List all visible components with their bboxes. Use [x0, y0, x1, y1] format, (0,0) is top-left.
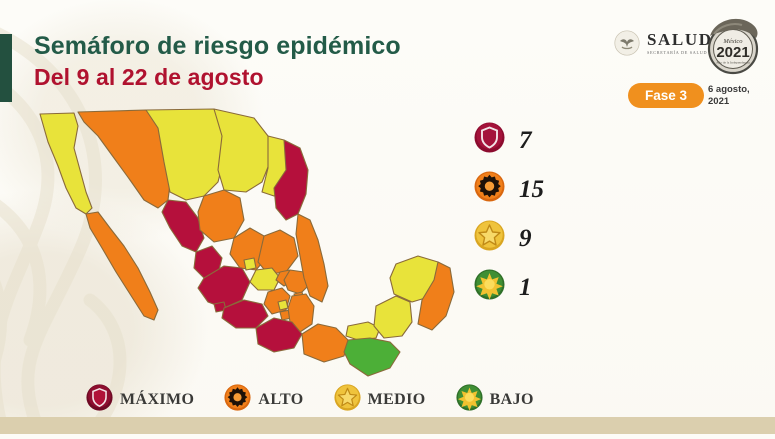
state-durango	[198, 190, 244, 242]
legend-item-medio: MEDIO	[334, 384, 426, 416]
state-chiapas	[344, 338, 400, 376]
mexico-2021-seal: México 2021 Año de la Independencia	[700, 14, 766, 78]
seal-year: 2021	[716, 44, 749, 61]
gear-icon	[474, 171, 505, 207]
count-row-bajo: 1	[474, 269, 544, 305]
footer-bar	[0, 417, 775, 434]
accent-bar	[0, 34, 12, 102]
phase-badge: Fase 3	[628, 83, 704, 108]
state-san-luis-potosi	[258, 230, 298, 274]
state-sinaloa	[162, 200, 204, 252]
legend-label-maximo: MÁXIMO	[120, 392, 194, 408]
count-row-maximo: 7	[474, 122, 544, 158]
count-value-alto: 15	[519, 177, 544, 202]
star-icon	[334, 384, 361, 416]
count-row-medio: 9	[474, 220, 544, 256]
legend-item-bajo: BAJO	[456, 384, 534, 416]
legend-label-medio: MEDIO	[368, 392, 426, 408]
risk-legend: MÁXIMO ALTO MEDIO	[86, 384, 534, 416]
shield-icon	[86, 384, 113, 416]
seal-subtitle: Año de la Independencia	[716, 61, 750, 65]
legend-item-maximo: MÁXIMO	[86, 384, 194, 416]
date-line-2: 2021	[708, 96, 750, 108]
gear-icon	[224, 384, 251, 416]
salud-logo: SALUD SECRETARÍA DE SALUD	[614, 30, 713, 56]
state-ciudad-de-mexico	[278, 300, 288, 310]
sun-icon	[474, 269, 505, 305]
legend-label-bajo: BAJO	[490, 392, 534, 408]
state-baja-california	[40, 113, 92, 214]
state-coahuila	[214, 109, 270, 192]
count-value-medio: 9	[519, 226, 532, 251]
sun-icon	[456, 384, 483, 416]
date-label: 6 agosto, 2021	[708, 84, 750, 108]
slide-root: Semáforo de riesgo epidémico Del 9 al 22…	[0, 0, 775, 434]
page-subtitle: Del 9 al 22 de agosto	[34, 64, 401, 92]
date-line-1: 6 agosto,	[708, 84, 750, 96]
count-value-maximo: 7	[519, 128, 532, 153]
title-block: Semáforo de riesgo epidémico Del 9 al 22…	[34, 32, 401, 91]
count-value-bajo: 1	[519, 275, 532, 300]
legend-label-alto: ALTO	[258, 392, 303, 408]
risk-count-list: 7 15 9	[474, 122, 544, 305]
state-baja-california-sur	[86, 212, 158, 320]
star-icon	[474, 220, 505, 256]
legend-item-alto: ALTO	[224, 384, 303, 416]
state-oaxaca	[302, 324, 348, 362]
page-title: Semáforo de riesgo epidémico	[34, 32, 401, 62]
shield-icon	[474, 122, 505, 158]
state-campeche	[374, 296, 412, 338]
mexico-risk-map	[18, 96, 478, 386]
state-aguascalientes	[244, 258, 256, 270]
eagle-emblem-icon	[614, 30, 640, 56]
count-row-alto: 15	[474, 171, 544, 207]
